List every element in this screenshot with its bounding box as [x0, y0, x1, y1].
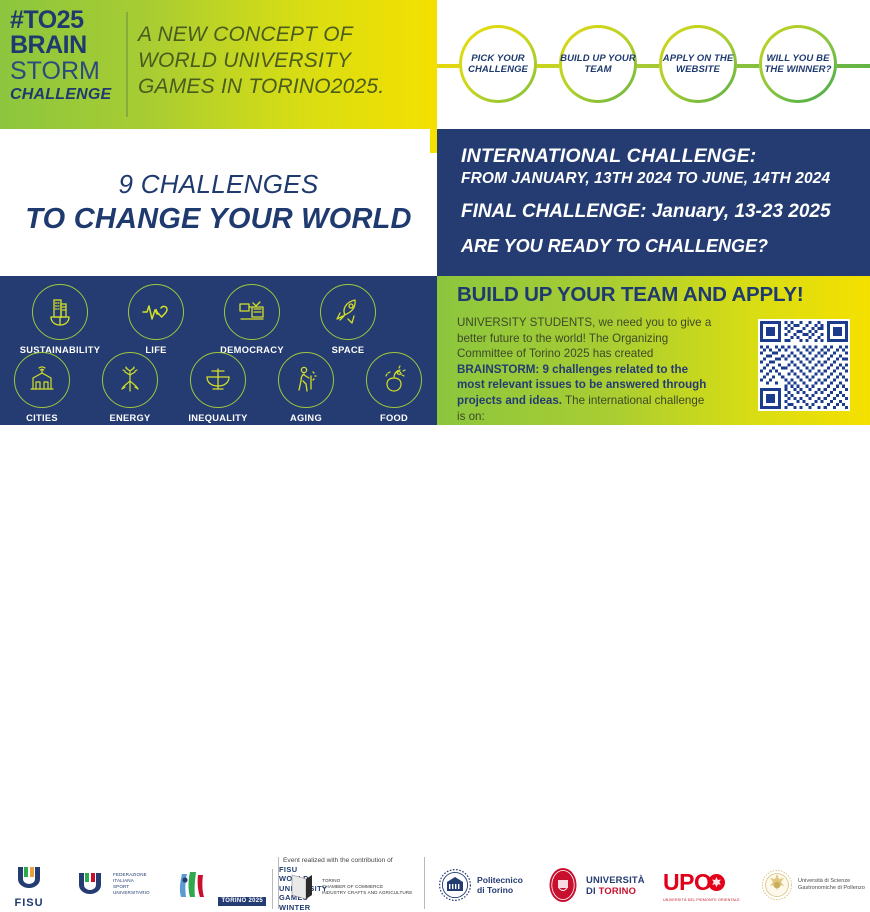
step-label-4: WILL YOU BE THE WINNER?	[759, 53, 837, 76]
chamber-label: TORINO CHAMBER OF COMMERCE INDUSTRY CRAF…	[322, 878, 412, 896]
challenge-row-bottom: CITIES ENERGY	[0, 352, 438, 423]
fisu-u-icon	[14, 865, 44, 891]
challenges-row: SUSTAINABILITY LIFE	[0, 276, 870, 425]
upo-emblem-icon	[708, 874, 725, 891]
unito-di: DI	[586, 885, 599, 896]
header-row: #TO25 BRAIN STORM CHALLENGE A NEW CONCEP…	[0, 0, 870, 129]
challenge-row-top: SUSTAINABILITY LIFE	[12, 284, 396, 355]
challenge-label: FOOD	[350, 413, 438, 423]
logo-upo[interactable]: UPO UNIVERSITÀ DEL PIEMONTE ORIENTALE	[663, 869, 740, 902]
city-hall-wifi-icon	[14, 352, 70, 408]
apply-title: BUILD UP YOUR TEAM AND APPLY!	[457, 283, 870, 307]
upo-wordmark: UPO	[663, 869, 711, 896]
challenge-label: AGING	[262, 413, 350, 423]
headline-panel: 9 CHALLENGES TO CHANGE YOUR WORLD	[0, 129, 437, 276]
challenge-item-cities[interactable]: CITIES	[0, 352, 86, 423]
chamber-mark-icon	[288, 872, 318, 902]
politecnico-line-2: di Torino	[477, 885, 523, 895]
fisi-label: FEDERAZIONE ITALIANA SPORT UNIVERSITARIO	[113, 872, 150, 896]
challenge-item-inequality[interactable]: INEQUALITY	[174, 352, 262, 423]
unito-torino: TORINO	[599, 885, 637, 896]
tree-roots-icon	[102, 352, 158, 408]
poster-root: #TO25 BRAIN STORM CHALLENGE A NEW CONCEP…	[0, 0, 870, 490]
sprouting-apple-icon	[366, 352, 422, 408]
challenge-item-democracy[interactable]: DEMOCRACY	[204, 284, 300, 355]
step-circle-4[interactable]: WILL YOU BE THE WINNER?	[759, 25, 837, 103]
logo-universita-scienze-gastronomiche-pollenzo[interactable]: Università di Scienze Gastronomiche di P…	[760, 867, 865, 903]
divider	[272, 869, 273, 909]
unito-line-1: UNIVERSITÀ	[586, 874, 645, 885]
step-label-1: PICK YOUR CHALLENGE	[459, 53, 537, 76]
tagline-text: A NEW CONCEPT OF WORLD UNIVERSITY GAMES …	[138, 22, 430, 100]
elderly-person-cane-icon	[278, 352, 334, 408]
ballot-box-hand-icon	[224, 284, 280, 340]
ready-to-challenge-text: ARE YOU READY TO CHALLENGE?	[461, 236, 870, 257]
headline-line-2: TO CHANGE YOUR WORLD	[25, 203, 411, 236]
logo-torino-chamber-of-commerce[interactable]: TORINO CHAMBER OF COMMERCE INDUSTRY CRAF…	[288, 872, 412, 902]
dates-panel: INTERNATIONAL CHALLENGE: FROM JANUARY, 1…	[437, 129, 870, 276]
fisi-u-icon	[76, 869, 110, 899]
rocket-icon	[320, 284, 376, 340]
apply-body: UNIVERSITY STUDENTS, we need you to give…	[457, 315, 715, 424]
footer-logos: FISU FEDERAZIONE ITALIANA SPORT UNIVERSI…	[0, 425, 870, 490]
politecnico-line-1: Politecnico	[477, 875, 523, 885]
headline-row: 9 CHALLENGES TO CHANGE YOUR WORLD INTERN…	[0, 129, 870, 276]
qr-code[interactable]	[758, 319, 850, 411]
international-challenge-range: FROM JANUARY, 13TH 2024 TO JUNE, 14TH 20…	[461, 170, 870, 188]
torino-games-mark-icon	[174, 870, 214, 902]
pollenzo-seal-icon	[760, 867, 794, 903]
step-circle-2[interactable]: BUILD UP YOUR TEAM	[559, 25, 637, 103]
logo-divider	[126, 12, 128, 117]
challenge-label: CITIES	[0, 413, 86, 423]
challenge-item-aging[interactable]: AGING	[262, 352, 350, 423]
final-challenge-dates: FINAL CHALLENGE: January, 13-23 2025	[461, 201, 870, 223]
balance-scale-icon	[190, 352, 246, 408]
torino-2025-badge: TORINO 2025	[218, 897, 266, 906]
yellow-accent-strip	[430, 129, 437, 153]
divider	[278, 857, 279, 909]
logo-line-to25: #TO25	[10, 8, 122, 33]
logo-line-brain: BRAIN	[10, 33, 122, 58]
international-challenge-title: INTERNATIONAL CHALLENGE:	[461, 145, 870, 168]
logo-politecnico-di-torino[interactable]: Politecnico di Torino	[438, 868, 523, 902]
step-label-3: APPLY ON THE WEBSITE	[659, 53, 737, 76]
logo-line-challenge: CHALLENGE	[10, 85, 122, 105]
logo-federazione-italiana-sport-universitario[interactable]: FEDERAZIONE ITALIANA SPORT UNIVERSITARIO	[76, 869, 150, 899]
fisu-wordmark: FISU	[14, 897, 44, 909]
step-label-2: BUILD UP YOUR TEAM	[559, 53, 637, 76]
unito-seal-icon	[545, 866, 581, 904]
apply-panel: BUILD UP YOUR TEAM AND APPLY! UNIVERSITY…	[437, 276, 870, 425]
logo-universita-di-torino[interactable]: UNIVERSITÀ DI TORINO	[545, 866, 645, 904]
steps-flow: PICK YOUR CHALLENGE BUILD UP YOUR TEAM A…	[437, 0, 870, 129]
challenge-item-life[interactable]: LIFE	[108, 284, 204, 355]
headline-line-1: 9 CHALLENGES	[118, 169, 318, 200]
pollenzo-line-2: Gastronomiche di Pollenzo	[798, 885, 865, 892]
apply-body-part-1: UNIVERSITY STUDENTS, we need you to give…	[457, 316, 711, 360]
logo-fisu[interactable]: FISU	[14, 865, 44, 909]
challenge-icons-panel: SUSTAINABILITY LIFE	[0, 276, 437, 425]
politecnico-seal-icon	[438, 868, 472, 902]
heartbeat-icon	[128, 284, 184, 340]
contribution-note: Event realized with the contribution of	[283, 857, 393, 864]
unito-line-2: DI TORINO	[586, 885, 645, 896]
step-circle-1[interactable]: PICK YOUR CHALLENGE	[459, 25, 537, 103]
challenge-item-space[interactable]: SPACE	[300, 284, 396, 355]
divider	[424, 857, 425, 909]
step-circle-3[interactable]: APPLY ON THE WEBSITE	[659, 25, 737, 103]
challenge-label: ENERGY	[86, 413, 174, 423]
challenge-item-sustainability[interactable]: SUSTAINABILITY	[12, 284, 108, 355]
brainstorm-logo: #TO25 BRAIN STORM CHALLENGE	[10, 8, 122, 120]
challenge-label: INEQUALITY	[174, 413, 262, 423]
challenge-item-energy[interactable]: ENERGY	[86, 352, 174, 423]
buildings-leaf-icon	[32, 284, 88, 340]
upo-subtitle: UNIVERSITÀ DEL PIEMONTE ORIENTALE	[663, 898, 740, 902]
challenge-item-food[interactable]: FOOD	[350, 352, 438, 423]
brand-gradient-panel: #TO25 BRAIN STORM CHALLENGE A NEW CONCEP…	[0, 0, 437, 129]
pollenzo-line-1: Università di Scienze	[798, 878, 865, 885]
logo-line-storm: STORM	[10, 58, 122, 85]
